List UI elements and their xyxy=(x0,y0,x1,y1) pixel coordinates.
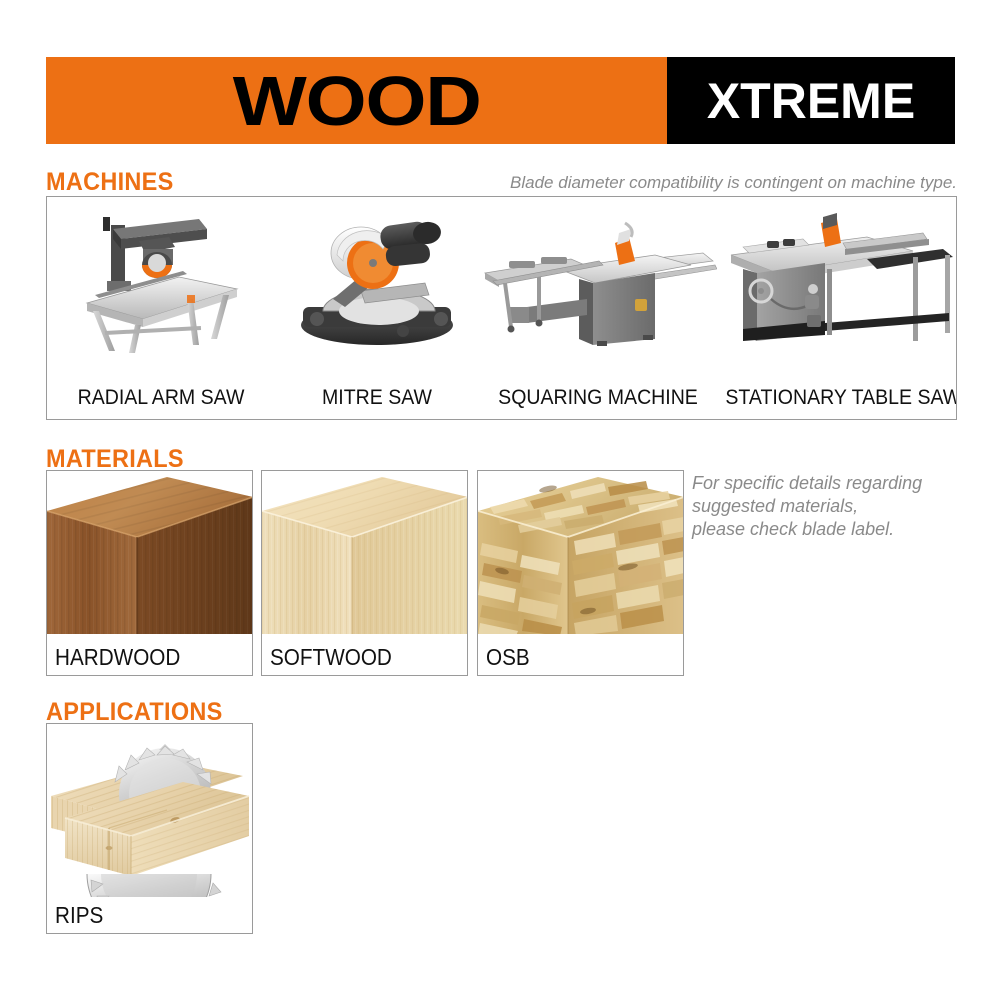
material-label-osb: OSB xyxy=(486,645,530,669)
section-heading-machines: MACHINES xyxy=(46,170,174,195)
section-heading-materials: MATERIALS xyxy=(46,447,184,472)
material-card-softwood: SOFTWOOD xyxy=(261,470,468,676)
application-label-rips: RIPS xyxy=(55,903,103,927)
stationary-table-saw-icon xyxy=(717,203,956,355)
machines-note: Blade diameter compatibility is continge… xyxy=(437,173,957,193)
softwood-block-icon xyxy=(262,471,467,636)
banner-subtitle-panel: XTREME xyxy=(667,57,955,144)
material-card-osb: OSB xyxy=(477,470,684,676)
squaring-machine-icon xyxy=(479,203,717,355)
mitre-saw-icon xyxy=(275,203,479,355)
material-label-softwood: SOFTWOOD xyxy=(270,645,392,669)
machine-label-mitre-saw: MITRE SAW xyxy=(282,387,472,409)
machine-label-squaring-machine: SQUARING MACHINE xyxy=(487,387,708,409)
hardwood-block-icon xyxy=(47,471,252,636)
material-card-hardwood: HARDWOOD xyxy=(46,470,253,676)
page-subtitle: XTREME xyxy=(707,76,915,126)
product-spec-sheet: WOOD XTREME MACHINES Blade diameter comp… xyxy=(0,0,1000,1000)
machines-panel: RADIAL ARM SAW xyxy=(46,196,957,420)
materials-note: For specific details regarding suggested… xyxy=(692,472,992,541)
page-title: WOOD xyxy=(232,66,480,136)
machine-cell-radial-arm-saw: RADIAL ARM SAW xyxy=(47,197,275,419)
material-label-hardwood: HARDWOOD xyxy=(55,645,180,669)
machine-cell-squaring-machine: SQUARING MACHINE xyxy=(479,197,717,419)
osb-block-icon xyxy=(478,471,683,636)
section-heading-applications: APPLICATIONS xyxy=(46,700,223,725)
machine-label-radial-arm-saw: RADIAL ARM SAW xyxy=(55,387,267,409)
application-card-rips: RIPS xyxy=(46,723,253,934)
radial-arm-saw-icon xyxy=(47,203,275,355)
header-banner: WOOD XTREME xyxy=(46,57,955,144)
machine-cell-stationary-table-saw: STATIONARY TABLE SAW xyxy=(717,197,956,419)
banner-title-panel: WOOD xyxy=(46,57,667,144)
machine-cell-mitre-saw: MITRE SAW xyxy=(275,197,479,419)
machine-label-stationary-table-saw: STATIONARY TABLE SAW xyxy=(725,387,947,409)
